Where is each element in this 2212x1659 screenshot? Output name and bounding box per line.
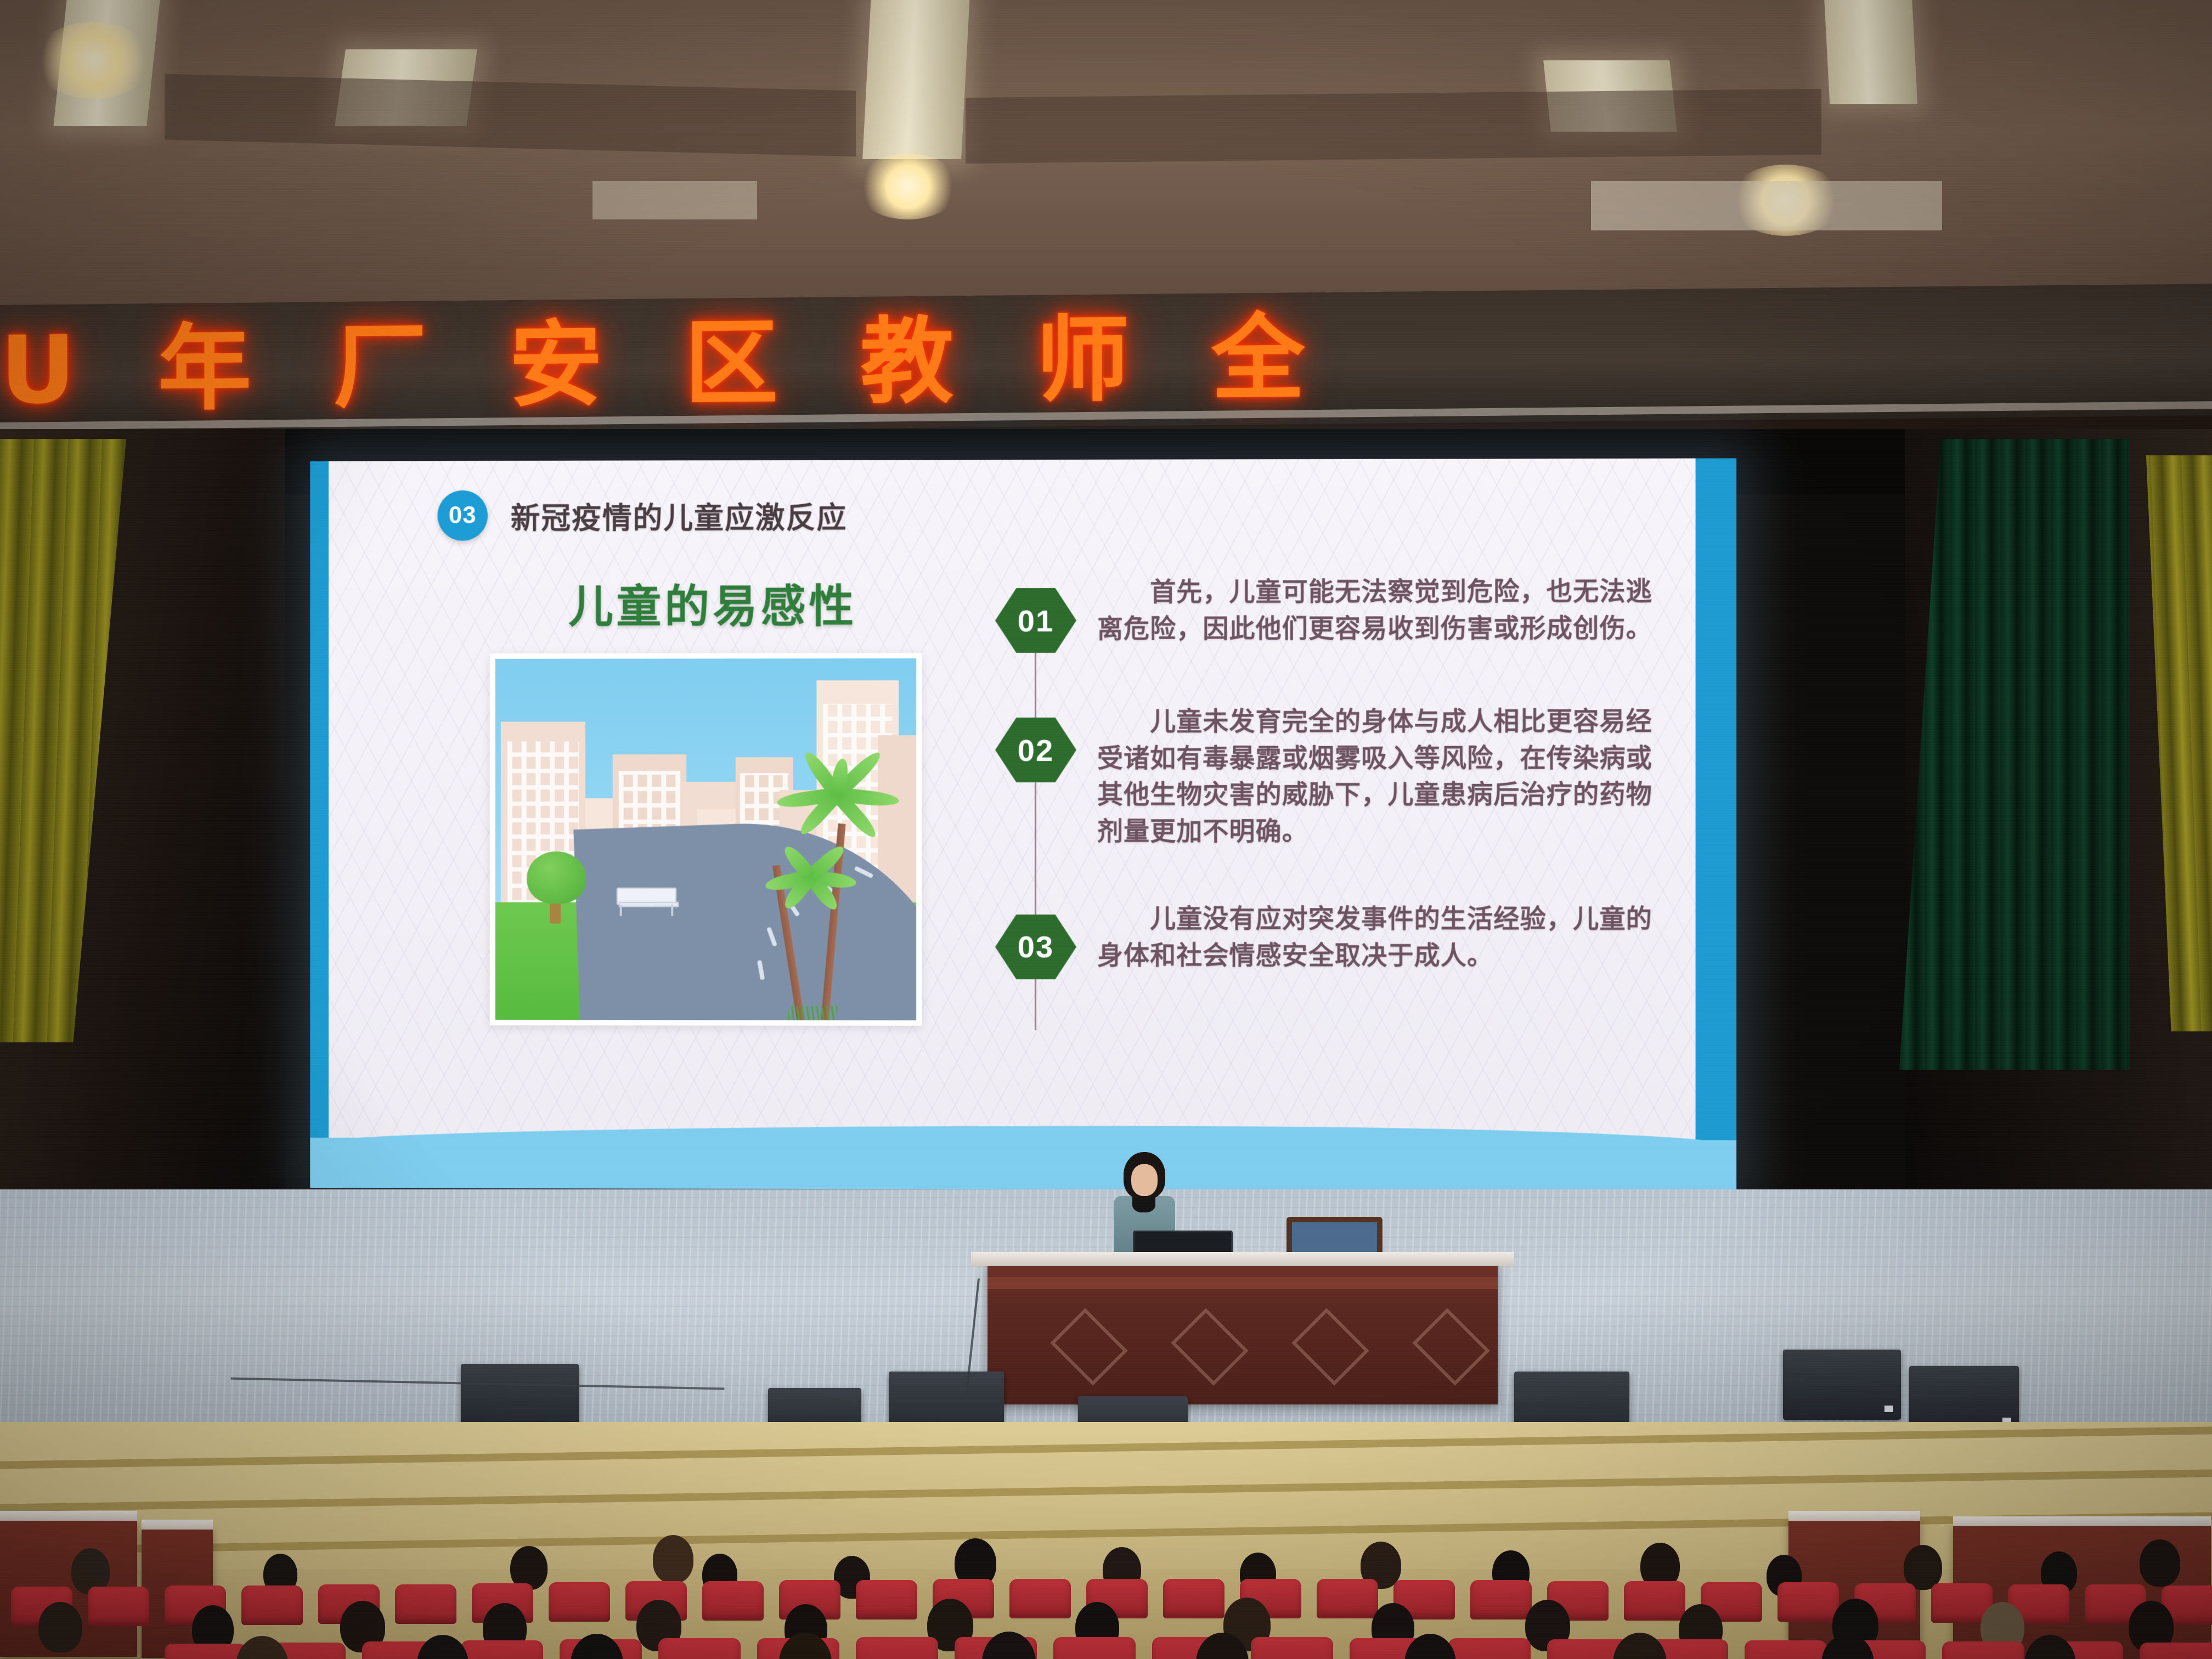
projection-screen: 03 新冠疫情的儿童应激反应 儿童的易感性 (310, 458, 1736, 1190)
point-number-badge: 01 (995, 588, 1076, 653)
audience-head (236, 1636, 289, 1659)
auditorium-seat[interactable] (1009, 1579, 1071, 1618)
auditorium-seat[interactable] (395, 1584, 456, 1624)
audience-head (571, 1634, 623, 1659)
palm-tree-icon (769, 741, 905, 834)
audience-seating (0, 1558, 2212, 1659)
auditorium-seat[interactable] (856, 1637, 938, 1659)
auditorium-seat[interactable] (1470, 1580, 1532, 1620)
point-text: 首先，儿童可能无法察觉到危险，也无法逃离危险，因此他们更容易收到伤害或形成创伤。 (1097, 568, 1668, 647)
ceiling-light-icon (33, 22, 154, 99)
auditorium-seat[interactable] (2140, 1643, 2212, 1659)
auditorium-presentation-photo: U 年 厂 安 区 教 师 全 03 新冠疫情的儿童应激反应 儿童的易感性 (0, 0, 2212, 1659)
podium (988, 1262, 1498, 1404)
led-char: 厂 (334, 320, 427, 415)
slide-accent-left (310, 461, 329, 1188)
palm-tree-icon (742, 823, 879, 916)
ceiling-light-icon (856, 154, 960, 219)
stage-monitor-6 (1783, 1350, 1901, 1420)
numbered-points-list: 01 首先，儿童可能无法察觉到危险，也无法逃离危险，因此他们更容易收到伤害或形成… (995, 568, 1668, 1026)
auditorium-seat[interactable] (165, 1644, 247, 1659)
audience-head (2024, 1635, 2076, 1659)
slide-accent-right (1696, 458, 1737, 1190)
list-item: 01 首先，儿童可能无法察觉到危险，也无法逃离危险，因此他们更容易收到伤害或形成… (995, 568, 1668, 653)
list-item: 03 儿童没有应对突发事件的生活经验，儿童的身体和社会情感安全取决于成人。 (995, 896, 1668, 980)
auditorium-seat[interactable] (549, 1582, 610, 1622)
slide-header-title: 新冠疫情的儿童应激反应 (511, 493, 848, 537)
auditorium-seat[interactable] (1624, 1581, 1685, 1621)
point-text: 儿童没有应对突发事件的生活经验，儿童的身体和社会情感安全取决于成人。 (1097, 896, 1668, 974)
audience-head (2140, 1539, 2180, 1587)
audience-head (38, 1602, 82, 1652)
point-text: 儿童未发育完全的身体与成人相比更容易经受诸如有毒暴露或烟雾吸入等风险，在传染病或… (1097, 698, 1668, 850)
city-park-illustration (490, 653, 922, 1026)
led-char: 师 (1036, 313, 1129, 408)
auditorium-seat[interactable] (1745, 1640, 1827, 1659)
auditorium-seat[interactable] (856, 1580, 917, 1620)
auditorium-seat[interactable] (1163, 1579, 1224, 1618)
led-char: 教 (860, 315, 953, 409)
point-number-badge: 02 (995, 718, 1076, 782)
ceiling (0, 0, 2212, 329)
slide-content: 03 新冠疫情的儿童应激反应 儿童的易感性 (329, 458, 1696, 1140)
audience-head (1613, 1633, 1667, 1659)
auditorium-seat[interactable] (1778, 1582, 1839, 1622)
auditorium-seat[interactable] (1251, 1637, 1333, 1659)
auditorium-seat[interactable] (1942, 1641, 2024, 1659)
slide-header: 03 新冠疫情的儿童应激反应 (438, 490, 848, 541)
slide-section-title: 儿童的易感性 (568, 569, 857, 635)
auditorium-seat[interactable] (658, 1638, 741, 1659)
auditorium-seat[interactable] (1317, 1579, 1378, 1618)
section-number-badge: 03 (438, 490, 488, 541)
led-char: 区 (685, 317, 778, 411)
grass-tuft (788, 1006, 838, 1020)
bench-icon (617, 888, 677, 916)
list-item: 02 儿童未发育完全的身体与成人相比更容易经受诸如有毒暴露或烟雾吸入等风险，在传… (995, 698, 1668, 850)
led-char: 年 (158, 322, 251, 416)
led-char: U (0, 324, 76, 417)
auditorium-seat[interactable] (241, 1585, 303, 1625)
led-char: 全 (1211, 312, 1305, 406)
auditorium-seat[interactable] (702, 1581, 764, 1621)
point-number-badge: 03 (995, 915, 1076, 979)
audience-head (982, 1632, 1036, 1659)
audience-head (653, 1535, 693, 1583)
slide-footer-wave (310, 1138, 1736, 1191)
auditorium-seat[interactable] (1053, 1637, 1136, 1659)
auditorium-seat[interactable] (461, 1640, 543, 1659)
auditorium-seat[interactable] (1448, 1638, 1531, 1659)
audience-head (417, 1635, 469, 1659)
led-char: 安 (509, 318, 602, 413)
tree-icon (527, 851, 586, 904)
auditorium-seat[interactable] (88, 1587, 149, 1626)
